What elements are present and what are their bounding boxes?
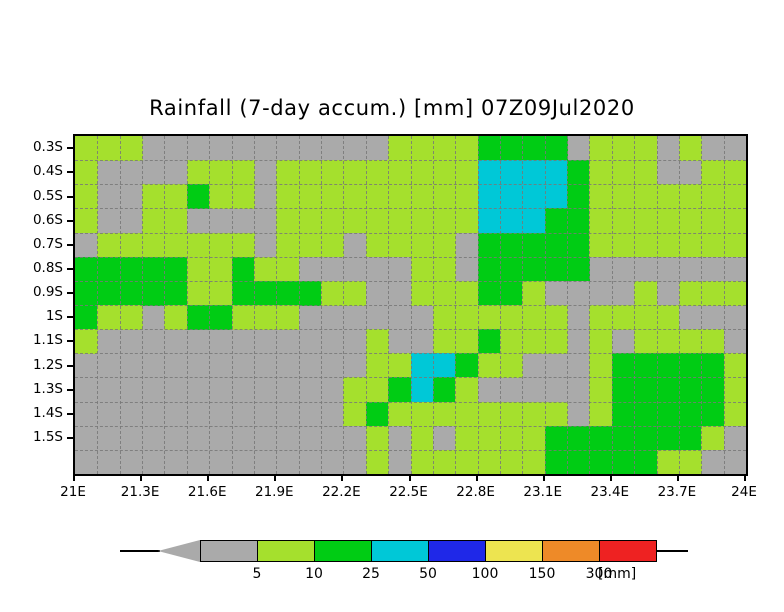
y-axis-label: 0.8S [0,260,63,276]
heatmap-cell [433,305,478,330]
colorbar-segment [485,540,543,562]
heatmap-cell [478,329,501,354]
colorbar-segment [599,540,657,562]
colorbar-segment [314,540,372,562]
heatmap-cell [187,160,255,185]
y-axis-tick [67,292,73,294]
heatmap-cell [478,305,523,330]
rainfall-map-page: Rainfall (7-day accum.) [mm] 07Z09Jul202… [0,0,784,612]
heatmap-cell [545,208,568,233]
y-axis-tick [67,316,73,318]
x-axis-tick [543,474,545,481]
heatmap-cell [433,450,478,474]
heatmap-cell [187,305,232,330]
colorbar-segments[interactable] [200,540,657,562]
y-axis-label: 0.9S [0,284,63,300]
y-axis-tick [67,220,73,222]
heatmap-cell [75,305,98,330]
colorbar-tick-label: 50 [398,566,458,582]
colorbar-tick-label: 10 [284,566,344,582]
x-axis-tick [409,474,411,481]
y-axis-tick [67,389,73,391]
heatmap-cell [232,257,255,282]
heatmap-cell [276,233,344,258]
page-title: Rainfall (7-day accum.) [mm] 07Z09Jul202… [0,96,784,120]
heatmap-cell [545,450,657,474]
colorbar-segment [428,540,486,562]
heatmap-cell [701,160,746,185]
heatmap-cell [612,426,702,451]
y-axis-label: 1S [0,308,63,324]
heatmap-cell [321,281,366,306]
heatmap-cell [433,377,456,402]
colorbar-segment [371,540,429,562]
heatmap-cell [478,208,546,233]
heatmap-grid[interactable] [75,136,746,474]
heatmap-cell [97,305,142,330]
colorbar-tick-label: 150 [512,566,572,582]
heatmap-cell [522,281,545,306]
heatmap-cell [187,257,232,282]
y-axis-tick [67,196,73,198]
plot-frame [73,134,748,476]
heatmap-cell [478,450,546,474]
heatmap-cell [567,160,590,233]
heatmap-cell [75,257,187,306]
y-axis-tick [67,437,73,439]
x-axis-tick [207,474,209,481]
heatmap-cell [388,377,411,402]
x-axis-tick [274,474,276,481]
heatmap-cell [343,377,388,402]
heatmap-cell [455,281,478,306]
colorbar-tick-label: 5 [227,566,287,582]
heatmap-cell [411,426,434,474]
y-axis-tick [67,268,73,270]
heatmap-cell [701,426,724,451]
heatmap-cell [589,184,657,233]
heatmap-cell [164,305,187,330]
colorbar[interactable]: 5102550100150300 [mm] [0,534,784,594]
heatmap-cell [142,184,187,233]
heatmap-cell [276,184,478,233]
heatmap-cell [97,233,254,258]
x-axis-tick [476,474,478,481]
heatmap-cell [411,377,434,402]
y-axis-tick [67,147,73,149]
heatmap-cell [343,402,366,427]
heatmap-cell [657,450,702,474]
heatmap-cell [75,136,143,161]
colorbar-segment [257,540,315,562]
heatmap-cell [388,136,478,161]
x-axis-tick [677,474,679,481]
heatmap-cell [366,329,389,354]
x-axis-tick [73,474,75,481]
heatmap-cell [589,329,612,378]
heatmap-cell [612,353,724,426]
heatmap-cell [254,257,299,282]
y-axis-label: 0.7S [0,236,63,252]
colorbar-left-spike [120,550,160,552]
heatmap-cell [455,377,478,402]
heatmap-cell [589,377,612,426]
heatmap-cell [522,305,567,330]
x-axis-tick [341,474,343,481]
colorbar-unit-label: [mm] [598,566,636,582]
heatmap-cell [545,426,613,451]
x-axis-tick [744,474,746,481]
heatmap-cell [187,281,232,306]
heatmap-cell [276,160,478,185]
x-axis-tick [610,474,612,481]
x-axis-label: 24E [704,484,784,500]
y-axis-label: 1.1S [0,332,63,348]
heatmap-cell [232,305,300,330]
heatmap-cell [411,353,456,378]
y-axis-tick [67,244,73,246]
heatmap-cell [589,136,657,161]
heatmap-cell [724,353,746,426]
heatmap-cell [634,329,724,354]
y-axis-label: 0.6S [0,212,63,228]
heatmap-cell [589,305,679,330]
heatmap-cell [75,160,98,233]
y-axis-label: 1.4S [0,405,63,421]
y-axis-label: 1.2S [0,357,63,373]
heatmap-cell [411,257,456,306]
heatmap-cell [232,281,322,306]
heatmap-cell [478,281,523,306]
heatmap-cell [478,257,590,282]
heatmap-cell [679,281,746,306]
y-axis-tick [67,171,73,173]
x-axis-tick [140,474,142,481]
heatmap-cell [657,184,746,233]
heatmap-cell [366,353,411,378]
colorbar-segment [200,540,258,562]
heatmap-cell [589,233,746,258]
heatmap-cell [388,402,568,427]
y-axis-tick [67,340,73,342]
heatmap-cell [455,426,545,451]
y-axis-label: 1.3S [0,381,63,397]
colorbar-segment [542,540,600,562]
heatmap-cell [366,402,389,427]
y-axis-tick [67,365,73,367]
heatmap-cell [679,136,702,161]
heatmap-cell [209,184,254,209]
heatmap-cell [366,426,389,474]
heatmap-cell [500,329,568,354]
heatmap-cell [187,184,210,209]
y-axis-label: 0.3S [0,139,63,155]
y-axis-label: 0.4S [0,163,63,179]
heatmap-cell [75,329,98,354]
heatmap-cell [478,353,523,378]
colorbar-tick-label: 25 [341,566,401,582]
heatmap-cell [589,160,657,185]
y-axis-tick [67,413,73,415]
y-axis-label: 0.5S [0,188,63,204]
heatmap-cell [366,233,456,258]
colorbar-tick-label: 100 [455,566,515,582]
colorbar-underflow-arrow [158,540,200,562]
heatmap-cell [478,136,568,161]
y-axis-label: 1.5S [0,429,63,445]
heatmap-cell [455,353,478,378]
